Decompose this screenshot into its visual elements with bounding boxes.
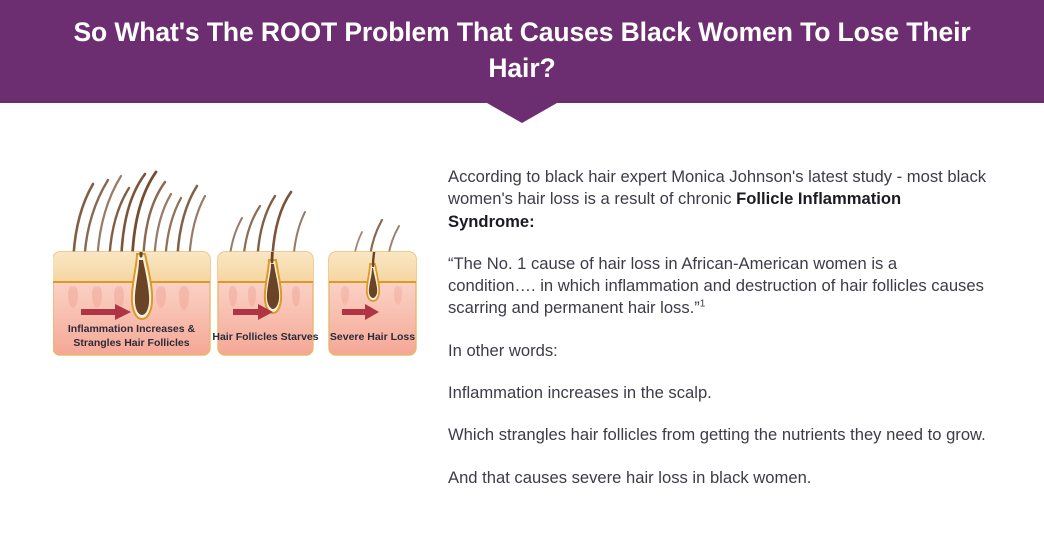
quote-text: “The No. 1 cause of hair loss in African…	[448, 254, 984, 318]
header-banner: So What's The ROOT Problem That Causes B…	[0, 0, 1044, 103]
article-body: According to black hair expert Monica Jo…	[448, 166, 988, 489]
intro-text: According to black hair expert Monica Jo…	[448, 167, 986, 208]
paragraph-strangles: Which strangles hair follicles from gett…	[448, 424, 988, 446]
triangle-down-icon	[487, 103, 557, 123]
panel-caption-line2: Strangles Hair Follicles	[73, 337, 189, 349]
hair-follicle-progression-diagram: Inflammation Increases & Strangles Hair …	[53, 168, 419, 358]
page-title: So What's The ROOT Problem That Causes B…	[0, 14, 1044, 86]
paragraph-intro: According to black hair expert Monica Jo…	[448, 166, 988, 233]
paragraph-in-other-words: In other words:	[448, 340, 988, 362]
paragraph-inflammation: Inflammation increases in the scalp.	[448, 382, 988, 404]
paragraph-quote: “The No. 1 cause of hair loss in African…	[448, 253, 988, 320]
panel-inflammation: Inflammation Increases & Strangles Hair …	[53, 172, 210, 355]
paragraph-conclusion: And that causes severe hair loss in blac…	[448, 467, 988, 489]
panel-severe-loss: Severe Hair Loss	[329, 218, 416, 355]
panel-caption-line1: Inflammation Increases &	[68, 323, 196, 335]
footnote-marker: 1	[700, 299, 706, 310]
panel-starvation: Hair Follicles Starves	[212, 192, 318, 355]
panel-caption-line1: Hair Follicles Starves	[212, 331, 318, 343]
panel-caption-line1: Severe Hair Loss	[330, 331, 415, 343]
